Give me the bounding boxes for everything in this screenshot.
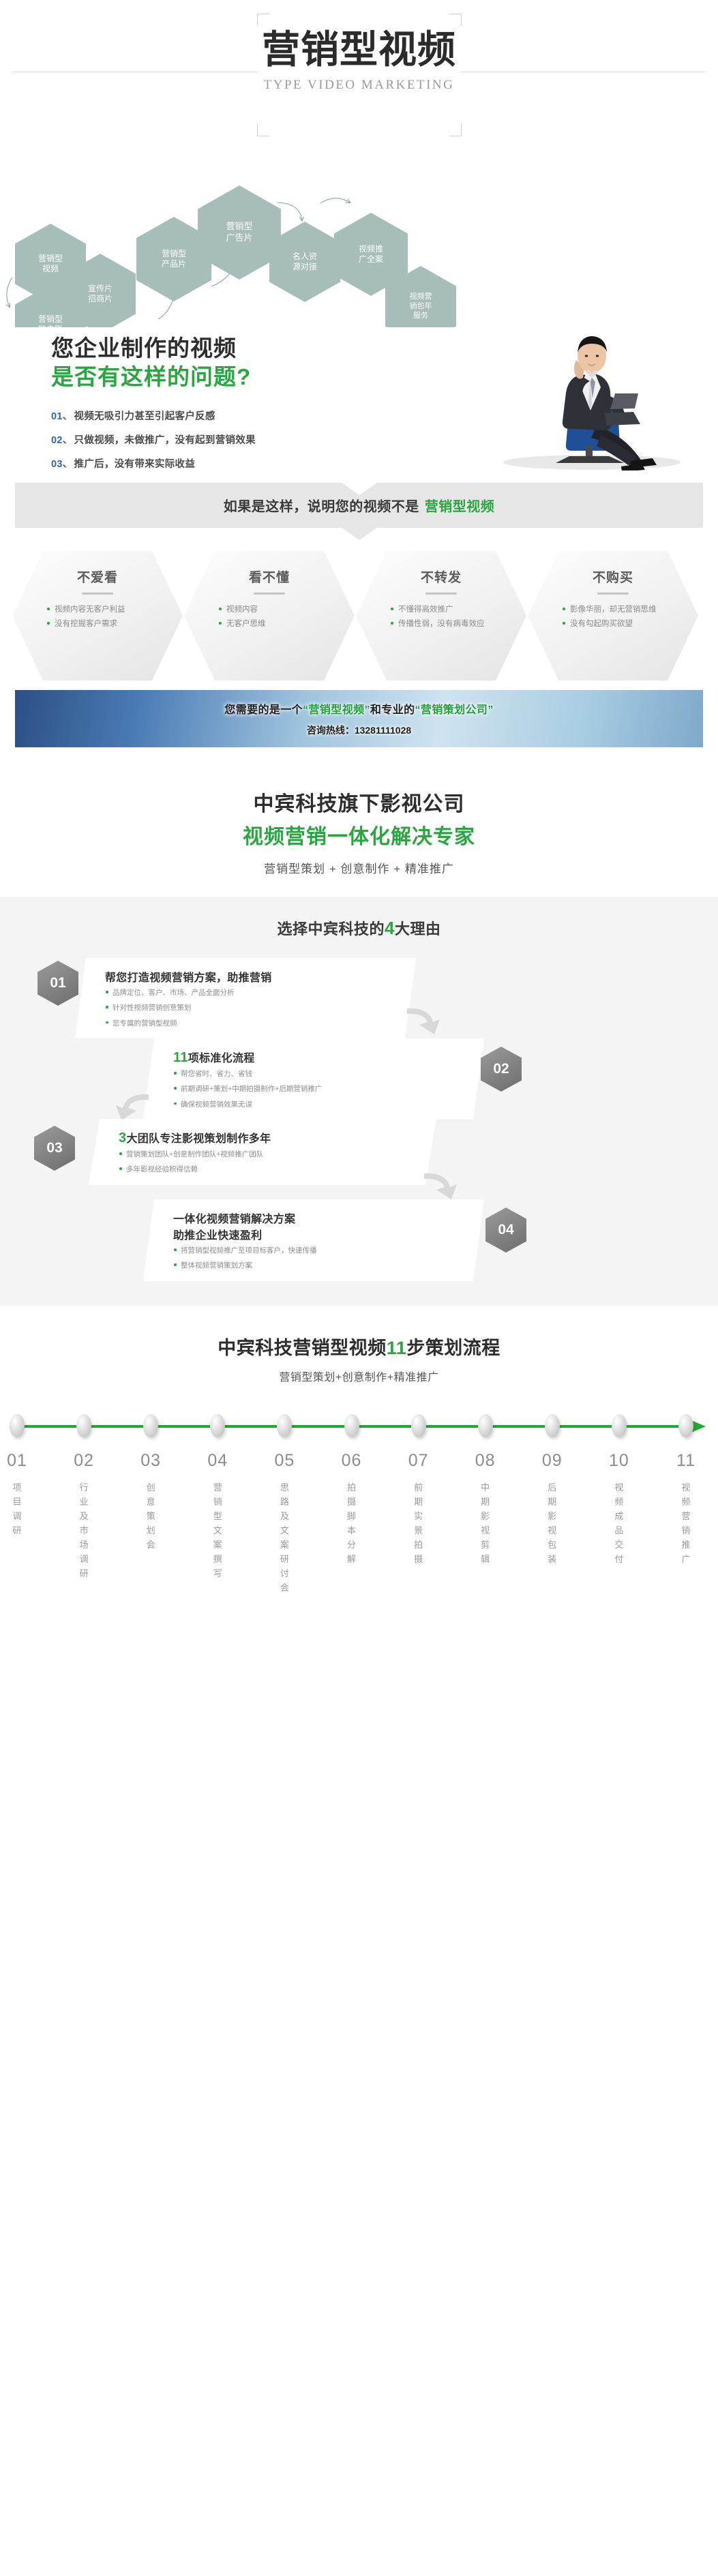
timeline-step-dot-icon bbox=[10, 1414, 25, 1437]
cta-section: 您需要的是一个“营销型视频”和专业的“营销策划公司” 咨询热线：13281111… bbox=[0, 682, 718, 764]
banner-notch-top-icon bbox=[342, 483, 377, 495]
timeline-step-dot-icon bbox=[612, 1414, 627, 1437]
steps-heading-a: 中宾科技营销型视频 bbox=[218, 1338, 387, 1358]
timeline-step-number: 09 bbox=[530, 1451, 575, 1471]
reason-heading: 11项标准化流程 bbox=[173, 1049, 461, 1066]
reason-card[interactable]: 3大团队专注影视策划制作多年营销策划团队+创意制作团队+视频推广团队多年影视经验… bbox=[89, 1119, 436, 1185]
intro-heading-2: 视频营销一体化解决专家 bbox=[0, 820, 718, 850]
timeline-step-dot-icon bbox=[478, 1414, 493, 1437]
service-hexagon-label: 视频营销包年服务 bbox=[406, 292, 436, 320]
timeline-step[interactable]: 05思路及文案研讨会 bbox=[262, 1413, 307, 1595]
problem-card-bullet: 没有挖掘客户需求 bbox=[46, 617, 149, 631]
reason-card[interactable]: 一体化视频营销解决方案助推企业快速盈利将营销型视频推广至项目标客户，快速传播整体… bbox=[143, 1199, 484, 1281]
timeline-step-dot-icon bbox=[545, 1414, 560, 1437]
timeline-step-number: 07 bbox=[396, 1451, 441, 1471]
steps-section: 中宾科技营销型视频11步策划流程 营销型策划+创意制作+精准推广 01项目调研0… bbox=[0, 1306, 718, 1606]
reasons-title-number: 4 bbox=[385, 918, 395, 938]
timeline-step-number: 05 bbox=[262, 1451, 307, 1471]
timeline-step[interactable]: 01项目调研 bbox=[0, 1413, 40, 1538]
reason-bullet: 确保视频营销效果无误 bbox=[173, 1098, 461, 1111]
summary-banner-text: 如果是这样，说明您的视频不是营销型视频 bbox=[15, 496, 703, 515]
problem-card-bullet: 不懂得高效推广 bbox=[390, 603, 492, 617]
problem-card-divider bbox=[82, 593, 113, 595]
timeline-step-dot-icon bbox=[143, 1414, 158, 1437]
timeline-step-dot-icon bbox=[277, 1414, 292, 1437]
problem-card-bullet: 视频内容无客户利益 bbox=[46, 603, 149, 617]
problem-card-divider bbox=[254, 593, 285, 595]
reason-heading: 一体化视频营销解决方案助推企业快速盈利 bbox=[173, 1210, 461, 1242]
problem-card-title: 不转发 bbox=[421, 567, 462, 586]
timeline-step-label: 视频营销推广 bbox=[681, 1480, 691, 1566]
timeline-step[interactable]: 10视频成品交付 bbox=[597, 1413, 642, 1566]
reason-card[interactable]: 帮您打造视频营销方案，助推营销品牌定位、客户、市场、产品全面分析针对性视频营销创… bbox=[75, 958, 416, 1038]
problem-text-block: 您企业制作的视频 是否有这样的问题? 01、视频无吸引力甚至引起客户反感02、只… bbox=[51, 334, 256, 480]
timeline-step-number: 11 bbox=[663, 1451, 708, 1471]
landing-page: 营销型视频 TYPE VIDEO MARKETING 营销型视频营销型微电影宣传… bbox=[0, 0, 718, 1606]
timeline-step-label: 拍摄脚本分解 bbox=[346, 1480, 357, 1566]
problem-item-text: 视频无吸引力甚至引起客户反感 bbox=[74, 411, 215, 422]
reason-number-badge: 04 bbox=[485, 1208, 526, 1253]
reasons-title-b: 大理由 bbox=[395, 920, 441, 938]
timeline-step-label: 行业及市场调研 bbox=[79, 1480, 89, 1581]
problem-cards-row: 不爱看视频内容无客户利益没有挖掘客户需求看不懂视频内容无客户思维不转发不懂得高效… bbox=[0, 545, 718, 682]
page-subtitle: TYPE VIDEO MARKETING bbox=[257, 78, 462, 93]
problem-card-title: 不购买 bbox=[593, 567, 633, 586]
problem-card-bullet: 传播性弱，没有病毒效应 bbox=[390, 617, 492, 631]
timeline-step-label: 创意策划会 bbox=[146, 1480, 156, 1552]
problem-item-number: 03、 bbox=[51, 459, 73, 470]
timeline-step-label: 项目调研 bbox=[12, 1480, 23, 1538]
service-hexagon-cluster: 营销型视频营销型微电影宣传片招商片营销型产品片营销型广告片名人资源对接视频推广全… bbox=[0, 170, 718, 327]
steps-heading-b: 步策划流程 bbox=[406, 1338, 500, 1358]
header-title-box: 营销型视频 TYPE VIDEO MARKETING bbox=[257, 14, 462, 136]
problem-card-title: 不爱看 bbox=[77, 567, 118, 586]
reason-row: 11项标准化流程帮您省时、省力、省钱前期调研+策划+中期拍摄制作+后期营销推广确… bbox=[0, 1037, 718, 1118]
reason-bullet: 帮您省时、省力、省钱 bbox=[173, 1067, 461, 1081]
cta-banner[interactable]: 您需要的是一个“营销型视频”和专业的“营销策划公司” 咨询热线：13281111… bbox=[15, 690, 703, 747]
timeline-step-dot-icon bbox=[210, 1414, 225, 1437]
timeline-step-number: 02 bbox=[61, 1451, 106, 1471]
reason-bullet: 多年影视经验积得信赖 bbox=[119, 1163, 413, 1176]
problem-list-item: 02、只做视频，未做推广，没有起到营销效果 bbox=[51, 432, 256, 447]
problem-item-text: 只做视频，未做推广，没有起到营销效果 bbox=[74, 435, 256, 446]
timeline-step-label: 视频成品交付 bbox=[614, 1480, 624, 1566]
corner-bracket-icon bbox=[257, 14, 269, 26]
timeline-step-number: 10 bbox=[597, 1451, 642, 1471]
problem-headline-dark: 您企业制作的视频 bbox=[51, 334, 256, 363]
cta-text-a: 您需要的是一个 bbox=[224, 704, 303, 716]
summary-banner-bar: 如果是这样，说明您的视频不是营销型视频 bbox=[15, 483, 703, 528]
timeline-step-dot-icon bbox=[411, 1414, 426, 1437]
timeline-step[interactable]: 09后期影视包装 bbox=[530, 1413, 575, 1566]
timeline-step-number: 06 bbox=[329, 1451, 374, 1471]
problem-card[interactable]: 看不懂视频内容无客户思维 bbox=[184, 551, 355, 680]
steps-timeline: 01项目调研02行业及市场调研03创意策划会04营销型文案撰写05思路及文案研讨… bbox=[0, 1413, 718, 1583]
problem-card-divider bbox=[597, 593, 629, 595]
timeline-step[interactable]: 02行业及市场调研 bbox=[61, 1413, 106, 1581]
reason-heading-number: 3 bbox=[119, 1130, 126, 1145]
problem-card-bullet: 影像华丽，却无营销思维 bbox=[562, 603, 664, 617]
problem-item-number: 02、 bbox=[51, 435, 73, 446]
timeline-step-number: 04 bbox=[195, 1451, 240, 1471]
intro-subheading: 营销型策划 + 创意制作 + 精准推广 bbox=[0, 859, 718, 876]
reason-row: 3大团队专注影视策划制作多年营销策划团队+创意制作团队+视频推广团队多年影视经验… bbox=[0, 1118, 718, 1198]
page-title: 营销型视频 bbox=[257, 14, 462, 74]
problem-list: 01、视频无吸引力甚至引起客户反感02、只做视频，未做推广，没有起到营销效果03… bbox=[51, 408, 256, 470]
cta-quote-1: “营销型视频” bbox=[303, 704, 370, 716]
reasons-list: 帮您打造视频营销方案，助推营销品牌定位、客户、市场、产品全面分析针对性视频营销创… bbox=[0, 957, 718, 1278]
reason-heading: 3大团队专注影视策划制作多年 bbox=[119, 1129, 413, 1146]
reason-bullet: 您专属的营销型视频 bbox=[105, 1017, 393, 1030]
timeline-step-dot-icon bbox=[344, 1414, 359, 1437]
timeline-step-dot-icon bbox=[76, 1414, 91, 1437]
problem-headline-green: 是否有这样的问题? bbox=[51, 363, 256, 391]
corner-bracket-icon bbox=[257, 124, 269, 136]
reason-number-badge: 02 bbox=[481, 1047, 522, 1092]
timeline-step-label: 后期影视包装 bbox=[547, 1480, 557, 1566]
timeline-step[interactable]: 06拍摄脚本分解 bbox=[329, 1413, 374, 1566]
banner-notch-bottom-icon bbox=[342, 528, 377, 540]
service-hexagon-label: 宣传片招商片 bbox=[84, 284, 117, 305]
problem-card[interactable]: 不爱看视频内容无客户利益没有挖掘客户需求 bbox=[12, 551, 183, 680]
reason-number-badge: 03 bbox=[34, 1126, 75, 1171]
timeline-step-label: 前期实景拍摄 bbox=[413, 1480, 423, 1566]
service-hexagon-label: 营销型视频 bbox=[34, 254, 67, 275]
reason-card[interactable]: 11项标准化流程帮您省时、省力、省钱前期调研+策划+中期拍摄制作+后期营销推广确… bbox=[143, 1038, 484, 1120]
reason-heading-text: 大团队专注影视策划制作多年 bbox=[126, 1133, 271, 1145]
reason-bullet: 将营销型视频推广至项目标客户，快速传播 bbox=[173, 1244, 461, 1257]
steps-subheading: 营销型策划+创意制作+精准推广 bbox=[0, 1368, 718, 1384]
timeline-step[interactable]: 11视频营销推广 bbox=[663, 1413, 708, 1566]
reason-flow-arrow-icon bbox=[406, 1004, 447, 1036]
problem-card[interactable]: 不购买影像华丽，却无营销思维没有勾起购买欲望 bbox=[528, 551, 698, 680]
timeline-step-label: 思路及文案研讨会 bbox=[280, 1480, 290, 1595]
cta-headline: 您需要的是一个“营销型视频”和专业的“营销策划公司” bbox=[224, 700, 493, 717]
corner-bracket-icon bbox=[449, 14, 462, 26]
cta-hotline[interactable]: 咨询热线：13281111028 bbox=[307, 723, 411, 737]
problem-item-number: 01、 bbox=[51, 411, 73, 422]
timeline-step-number: 08 bbox=[463, 1451, 508, 1471]
service-hexagon-label: 营销型广告片 bbox=[222, 221, 256, 243]
reason-row: 帮您打造视频营销方案，助推营销品牌定位、客户、市场、产品全面分析针对性视频营销创… bbox=[0, 957, 718, 1037]
businessman-photo bbox=[452, 322, 704, 472]
summary-banner: 如果是这样，说明您的视频不是营销型视频 bbox=[0, 470, 718, 545]
timeline-step-number: 01 bbox=[0, 1451, 40, 1471]
page-header: 营销型视频 TYPE VIDEO MARKETING bbox=[0, 0, 718, 170]
timeline-step-label: 营销型文案撰写 bbox=[213, 1480, 223, 1581]
company-intro: 中宾科技旗下影视公司 视频营销一体化解决专家 营销型策划 + 创意制作 + 精准… bbox=[0, 764, 718, 897]
problem-list-item: 03、推广后，没有带来实际收益 bbox=[51, 456, 256, 470]
timeline-step[interactable]: 08中期影视剪辑 bbox=[463, 1413, 508, 1566]
summary-banner-text-dark: 如果是这样，说明您的视频不是 bbox=[224, 500, 419, 515]
timeline-step-label: 中期影视剪辑 bbox=[480, 1480, 490, 1566]
reason-heading-text: 帮您打造视频营销方案，助推营销 bbox=[105, 972, 272, 984]
header-rule-left bbox=[12, 72, 258, 72]
service-hexagon-label: 名人资源对接 bbox=[288, 252, 321, 273]
reason-heading-number: 11 bbox=[173, 1050, 188, 1065]
problem-card-bullet: 无客户思维 bbox=[218, 617, 320, 631]
reason-bullet: 针对性视频营销创意策划 bbox=[105, 1001, 393, 1015]
reasons-title-a: 选择中宾科技的 bbox=[278, 920, 385, 938]
reason-bullet: 前期调研+策划+中期拍摄制作+后期营销推广 bbox=[173, 1082, 461, 1096]
timeline-step[interactable]: 03创意策划会 bbox=[128, 1413, 173, 1552]
reason-row: 一体化视频营销解决方案助推企业快速盈利将营销型视频推广至项目标客户，快速传播整体… bbox=[0, 1198, 718, 1278]
service-hexagon-label: 视频推广全案 bbox=[355, 244, 387, 265]
header-rule-right bbox=[460, 72, 706, 72]
problem-list-item: 01、视频无吸引力甚至引起客户反感 bbox=[51, 408, 256, 423]
reason-number-badge: 01 bbox=[38, 961, 78, 1006]
reasons-section: 选择中宾科技的4大理由 帮您打造视频营销方案，助推营销品牌定位、客户、市场、产品… bbox=[0, 897, 718, 1306]
reasons-title: 选择中宾科技的4大理由 bbox=[0, 917, 718, 939]
timeline-step[interactable]: 07前期实景拍摄 bbox=[396, 1413, 441, 1566]
reason-heading-text: 项标准化流程 bbox=[188, 1053, 255, 1064]
reason-heading: 帮您打造视频营销方案，助推营销 bbox=[105, 968, 393, 985]
reason-bullet: 营销策划团队+创意制作团队+视频推广团队 bbox=[119, 1148, 413, 1161]
cta-text-b: 和专业的 bbox=[370, 704, 415, 716]
problem-card-bullet: 没有勾起购买欲望 bbox=[562, 617, 664, 631]
reason-flow-arrow-icon bbox=[423, 1169, 464, 1201]
problem-section: 您企业制作的视频 是否有这样的问题? 01、视频无吸引力甚至引起客户反感02、只… bbox=[0, 327, 718, 470]
cta-quote-2: “营销策划公司” bbox=[415, 704, 494, 716]
timeline-step[interactable]: 04营销型文案撰写 bbox=[195, 1413, 240, 1581]
problem-card-divider bbox=[425, 593, 457, 595]
reason-heading-text: 一体化视频营销解决方案助推企业快速盈利 bbox=[173, 1214, 295, 1242]
intro-heading-1: 中宾科技旗下影视公司 bbox=[0, 787, 718, 817]
problem-card-bullet: 视频内容 bbox=[218, 603, 320, 617]
summary-banner-text-green: 营销型视频 bbox=[425, 500, 495, 515]
problem-card[interactable]: 不转发不懂得高效推广传播性弱，没有病毒效应 bbox=[356, 551, 526, 680]
timeline-step-number: 03 bbox=[128, 1451, 173, 1471]
corner-bracket-icon bbox=[449, 124, 462, 136]
timeline-step-dot-icon bbox=[678, 1414, 693, 1437]
problem-card-title: 看不懂 bbox=[249, 567, 290, 586]
steps-heading-number: 11 bbox=[387, 1338, 407, 1358]
reason-bullet: 品牌定位、客户、市场、产品全面分析 bbox=[105, 986, 393, 1000]
service-hexagon-label: 营销型产品片 bbox=[158, 249, 190, 270]
steps-heading: 中宾科技营销型视频11步策划流程 bbox=[0, 1333, 718, 1360]
problem-item-text: 推广后，没有带来实际收益 bbox=[74, 459, 196, 470]
reason-bullet: 整体视频营销策划方案 bbox=[173, 1259, 461, 1272]
